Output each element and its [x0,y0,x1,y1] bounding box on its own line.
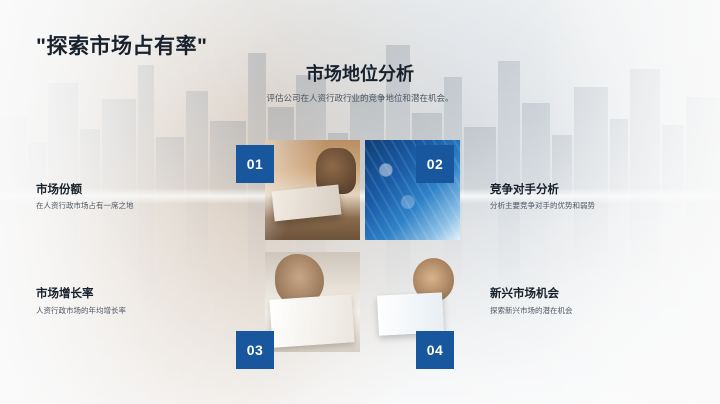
slide: "探索市场占有率" 市场地位分析 评估公司在人资行政行业的竞争地位和潜在机会。 … [0,0,720,404]
number-badge-03: 03 [236,331,274,369]
meeting-documents-photo [265,140,360,240]
item-desc-01: 在人资行政市场占有一席之地 [36,201,221,212]
item-title-04: 新兴市场机会 [490,285,559,301]
section-subheading: 评估公司在人资行政行业的竞争地位和潜在机会。 [0,92,720,104]
signing-document-photo [265,252,360,352]
slide-title: "探索市场占有率" [36,30,207,60]
number-badge-01: 01 [236,145,274,183]
number-badge-02: 02 [416,145,454,183]
item-title-02: 竞争对手分析 [490,181,559,197]
item-desc-02: 分析主要竞争对手的优势和弱势 [490,201,685,212]
item-desc-03: 人资行政市场的年均增长率 [36,306,221,317]
item-title-01: 市场份额 [36,181,82,197]
item-desc-04: 探索新兴市场的潜在机会 [490,306,685,317]
section-heading: 市场地位分析 [0,60,720,86]
number-badge-04: 04 [416,331,454,369]
item-title-03: 市场增长率 [36,285,94,301]
